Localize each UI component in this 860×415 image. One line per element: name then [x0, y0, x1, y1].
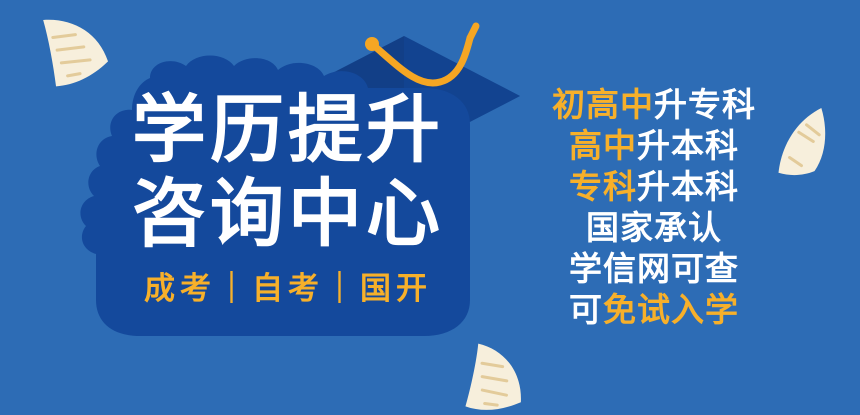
headline-line-2: 咨询中心 — [78, 172, 498, 256]
benefit-row-2: 高中升本科 — [524, 125, 784, 166]
benefit-accent-6: 免试入学 — [603, 290, 739, 329]
benefit-accent-3: 专科 — [569, 167, 637, 206]
benefit-row-3: 专科升本科 — [524, 166, 784, 207]
benefit-accent-1: 初高中 — [552, 85, 654, 124]
benefit-row-5: 学信网可查 — [524, 248, 784, 289]
headline-line-1: 学历提升 — [78, 88, 498, 172]
benefit-plain-1: 升专科 — [654, 85, 756, 124]
benefit-list: 初高中升专科 高中升本科 专科升本科 国家承认 学信网可查 可免试入学 — [524, 84, 784, 330]
benefit-plain-6: 可 — [569, 290, 603, 329]
benefit-row-1: 初高中升专科 — [524, 84, 784, 125]
benefit-plain-4: 国家承认 — [586, 208, 722, 247]
headline-subtitle: 成考｜自考｜国开 — [78, 270, 498, 308]
education-promo-banner: 学历提升 咨询中心 成考｜自考｜国开 初高中升专科 高中升本科 专科升本科 国家… — [0, 0, 860, 415]
benefit-row-4: 国家承认 — [524, 207, 784, 248]
benefit-plain-3: 升本科 — [637, 167, 739, 206]
benefit-plain-2: 升本科 — [637, 126, 739, 165]
headline-group: 学历提升 咨询中心 成考｜自考｜国开 — [78, 88, 498, 308]
benefit-accent-2: 高中 — [569, 126, 637, 165]
benefit-row-6: 可免试入学 — [524, 289, 784, 330]
benefit-plain-5: 学信网可查 — [569, 249, 739, 288]
